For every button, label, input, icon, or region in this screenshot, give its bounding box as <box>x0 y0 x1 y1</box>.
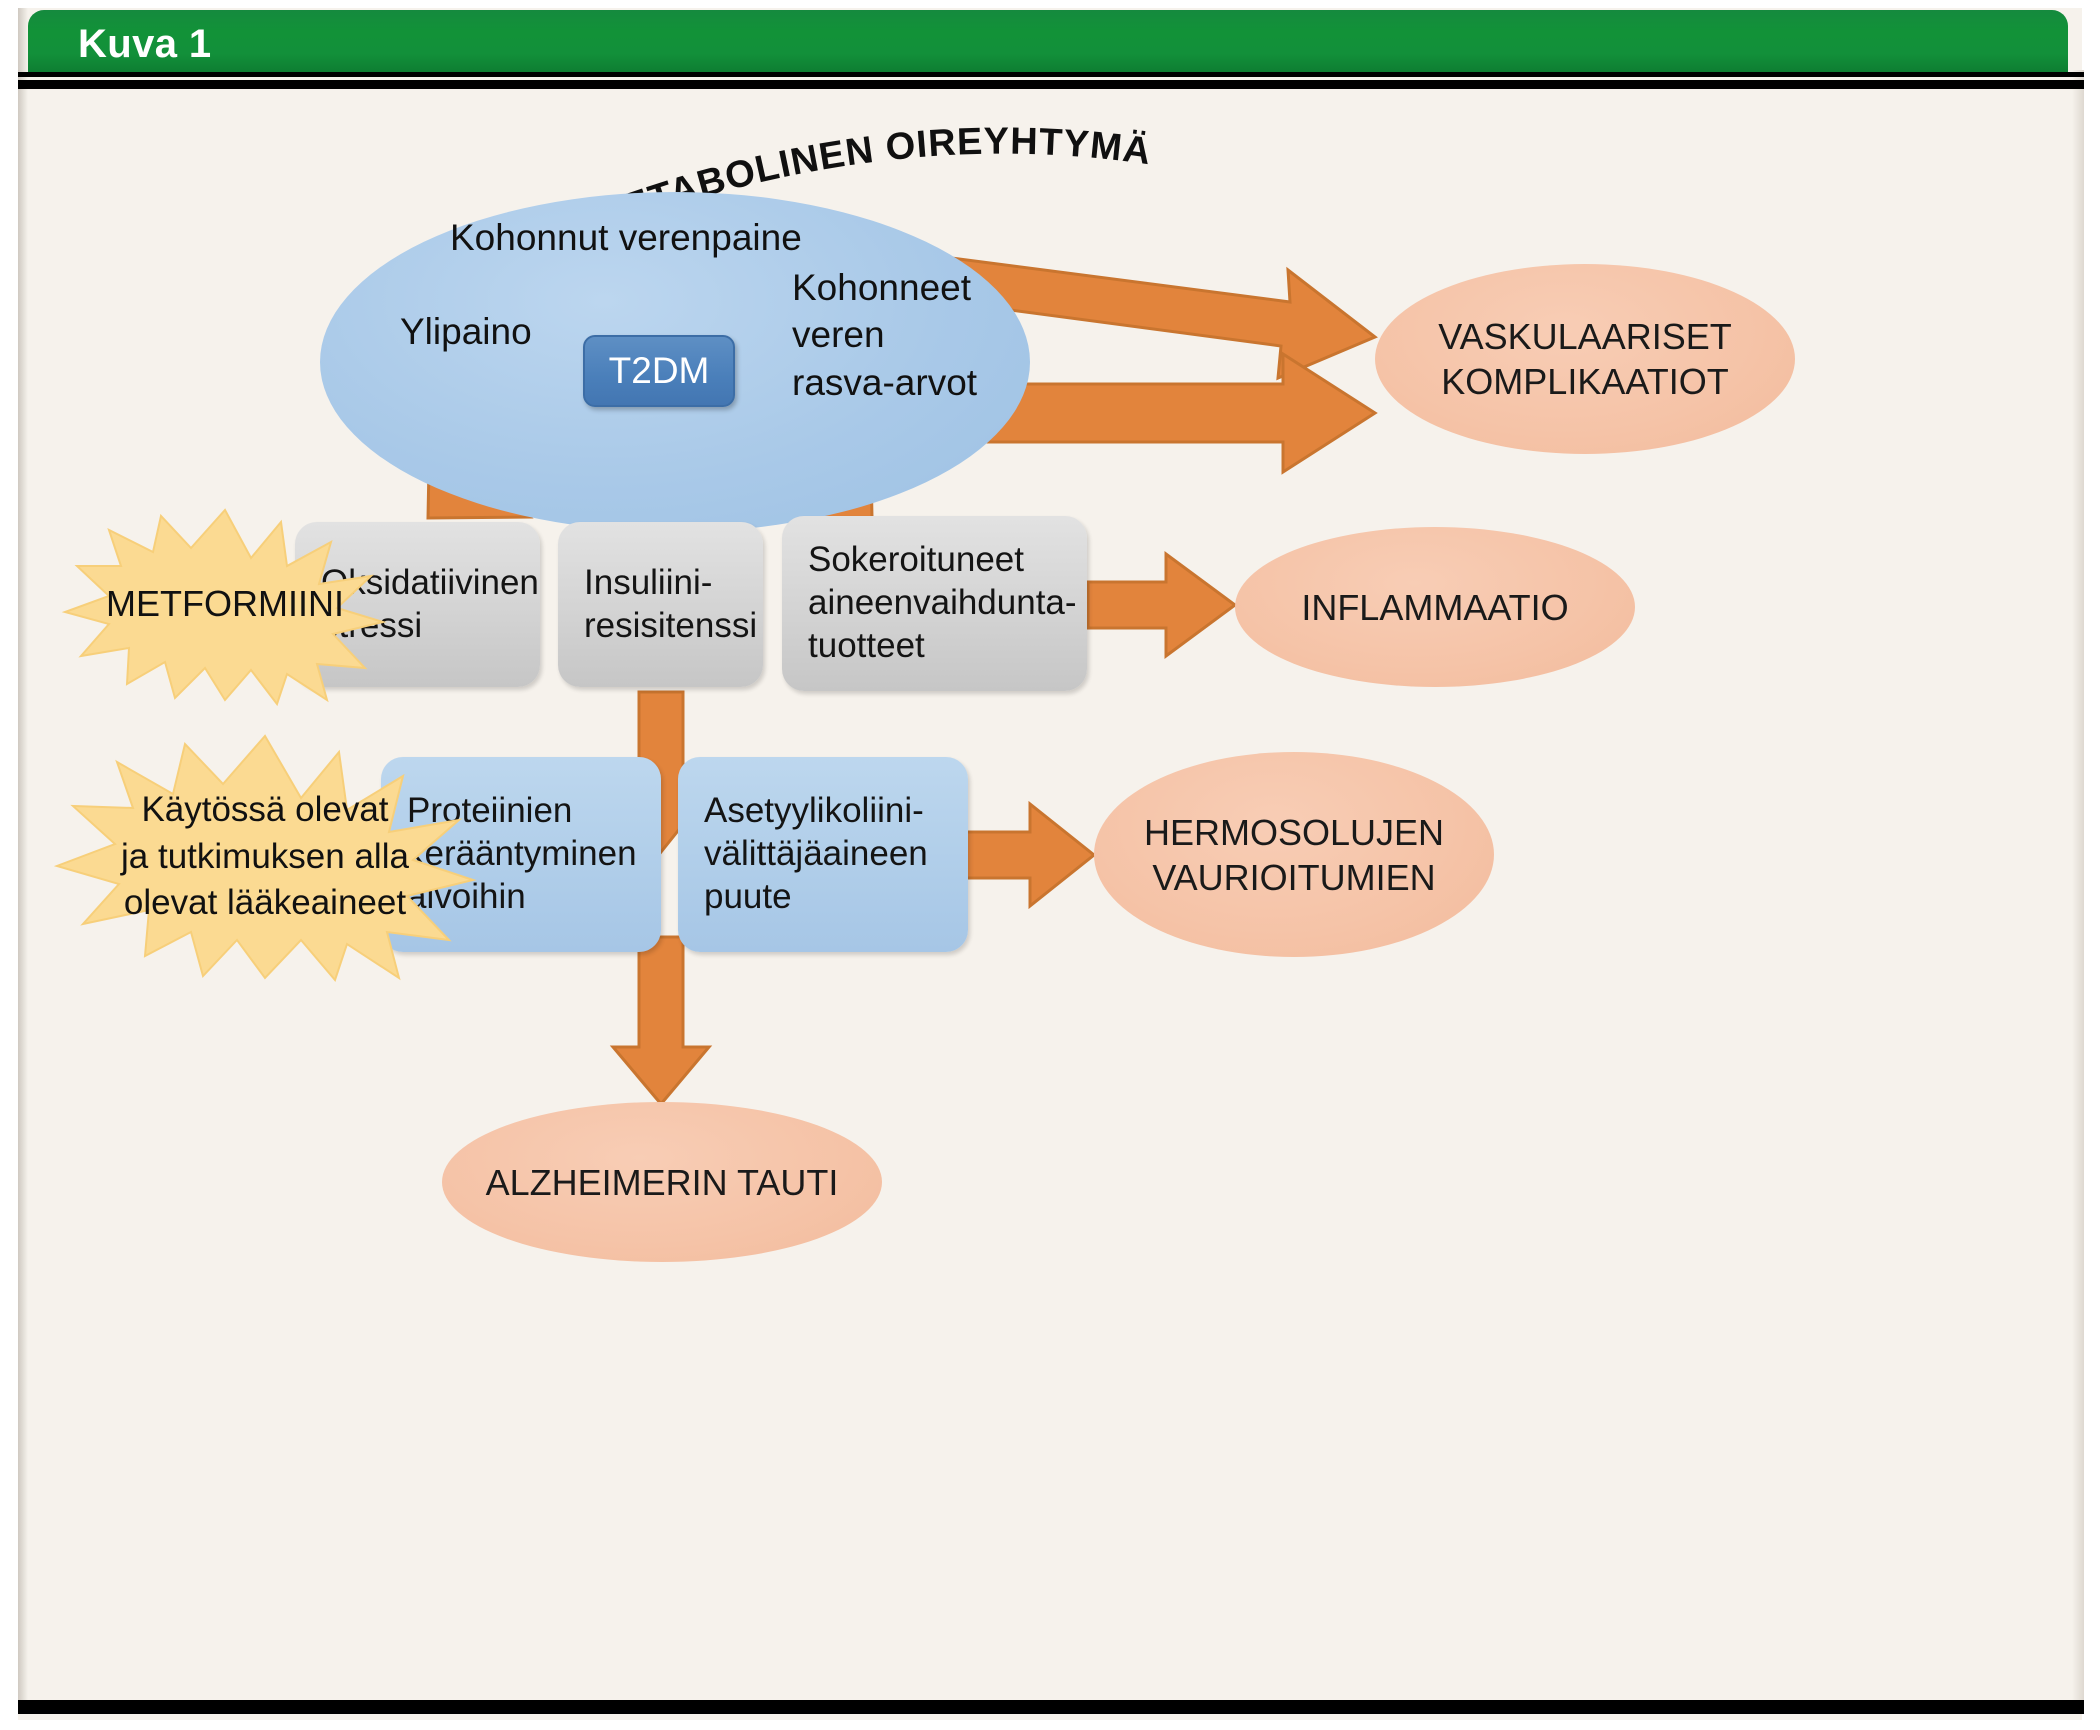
label-kohonneet-veren-rasva-arvot: Kohonneet veren rasva-arvot <box>792 264 977 406</box>
frame-bottom-edge <box>18 1700 2084 1714</box>
header-divider-bottom <box>18 80 2084 89</box>
inflammation-ellipse: INFLAMMAATIO <box>1235 527 1635 687</box>
glycation-products-box[interactable]: Sokeroituneet aineenvaihdunta- tuotteet <box>782 516 1087 691</box>
alzheimer-label: ALZHEIMERIN TAUTI <box>486 1160 839 1205</box>
label-kohonnut-verenpaine: Kohonnut verenpaine <box>450 214 802 261</box>
acetylcholine-deficit-label: Asetyylikoliini- välittäjäaineen puute <box>704 790 928 918</box>
metformin-label-wrap: METFORMIINI <box>65 564 385 644</box>
page-title: Kuva 1 <box>78 22 212 67</box>
insulin-resistance-label: Insuliini- resisitenssi <box>584 562 757 647</box>
drugs-label-wrap: Käytössä olevat ja tutkimuksen alla olev… <box>65 782 465 932</box>
metformin-label: METFORMIINI <box>106 580 344 628</box>
vascular-complications-ellipse: VASKULAARISET KOMPLIKAATIOT <box>1375 264 1795 454</box>
t2dm-label: T2DM <box>609 348 710 393</box>
inflammation-label: INFLAMMAATIO <box>1301 585 1568 630</box>
neuronal-damage-ellipse: HERMOSOLUJEN VAURIOITUMIEN <box>1094 752 1494 957</box>
acetylcholine-deficit-box[interactable]: Asetyylikoliini- välittäjäaineen puute <box>678 757 968 952</box>
figure-header-bar <box>28 10 2068 72</box>
arrow-to-alzheimer <box>613 937 709 1104</box>
arrow-to-neuronal-damage <box>960 804 1094 906</box>
glycation-products-label: Sokeroituneet aineenvaihdunta- tuotteet <box>808 539 1077 667</box>
vascular-complications-label: VASKULAARISET KOMPLIKAATIOT <box>1438 314 1731 404</box>
drugs-label: Käytössä olevat ja tutkimuksen alla olev… <box>121 787 409 928</box>
frame-left-edge <box>18 8 28 1714</box>
arrow-to-inflammation <box>1088 554 1235 656</box>
neuronal-damage-label: HERMOSOLUJEN VAURIOITUMIEN <box>1144 810 1444 900</box>
t2dm-box[interactable]: T2DM <box>583 335 735 407</box>
diagram-canvas: METABOLINEN OIREYHTYMÄ Kohonnut verenpai… <box>30 92 2076 1696</box>
header-divider-top <box>18 72 2084 77</box>
alzheimer-ellipse: ALZHEIMERIN TAUTI <box>442 1102 882 1262</box>
label-ylipaino: Ylipaino <box>400 308 532 355</box>
figure-page: Kuva 1 <box>0 0 2100 1730</box>
insulin-resistance-box[interactable]: Insuliini- resisitenssi <box>558 522 763 687</box>
